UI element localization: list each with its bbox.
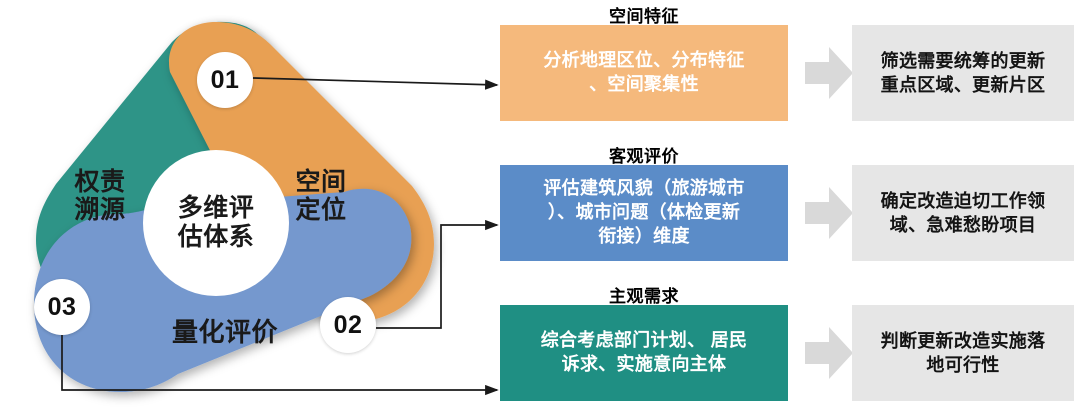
chevron-right-icon-0 [803, 44, 855, 102]
step-badge-02[interactable]: 02 [320, 297, 376, 353]
step-badge-03[interactable]: 03 [34, 279, 90, 335]
row-heading-2: 主观需求 [500, 282, 788, 307]
row-heading-0: 空间特征 [500, 2, 788, 27]
row-heading-1: 客观评价 [500, 142, 788, 167]
step-badge-01[interactable]: 01 [197, 52, 253, 108]
row-source-box-2[interactable]: 综合考虑部门计划、 居民 诉求、实施意向主体 [500, 305, 788, 401]
row-result-box-1[interactable]: 确定改造迫切工作领 域、急难愁盼项目 [852, 165, 1074, 261]
row-source-text-0: 分析地理区位、分布特征 、空间聚集性 [543, 49, 744, 97]
row-result-text-2: 判断更新改造实施落 地可行性 [881, 329, 1046, 377]
row-result-box-2[interactable]: 判断更新改造实施落 地可行性 [852, 305, 1074, 401]
chevron-right-icon-1 [803, 184, 855, 242]
row-result-text-0: 筛选需要统筹的更新 重点区域、更新片区 [881, 49, 1046, 97]
row-source-box-1[interactable]: 评估建筑风貌（旅游城市 ）、城市问题（体检更新 衔接）维度 [500, 165, 788, 261]
center-circle: 多维评 估体系 [143, 150, 289, 296]
chevron-right-icon-2 [803, 324, 855, 382]
row-source-text-2: 综合考虑部门计划、 居民 诉求、实施意向主体 [541, 329, 748, 377]
diagram-canvas: 权责 溯源 空间 定位 量化评价 多维评 估体系 01 02 03 空间特征 分… [0, 0, 1080, 413]
row-source-box-0[interactable]: 分析地理区位、分布特征 、空间聚集性 [500, 25, 788, 121]
row-result-text-1: 确定改造迫切工作领 域、急难愁盼项目 [881, 189, 1046, 237]
center-circle-label: 多维评 估体系 [178, 194, 255, 253]
row-result-box-0[interactable]: 筛选需要统筹的更新 重点区域、更新片区 [852, 25, 1074, 121]
row-source-text-1: 评估建筑风貌（旅游城市 ）、城市问题（体检更新 衔接）维度 [543, 177, 744, 248]
trefoil-diagram: 权责 溯源 空间 定位 量化评价 多维评 估体系 01 02 03 [0, 0, 470, 413]
